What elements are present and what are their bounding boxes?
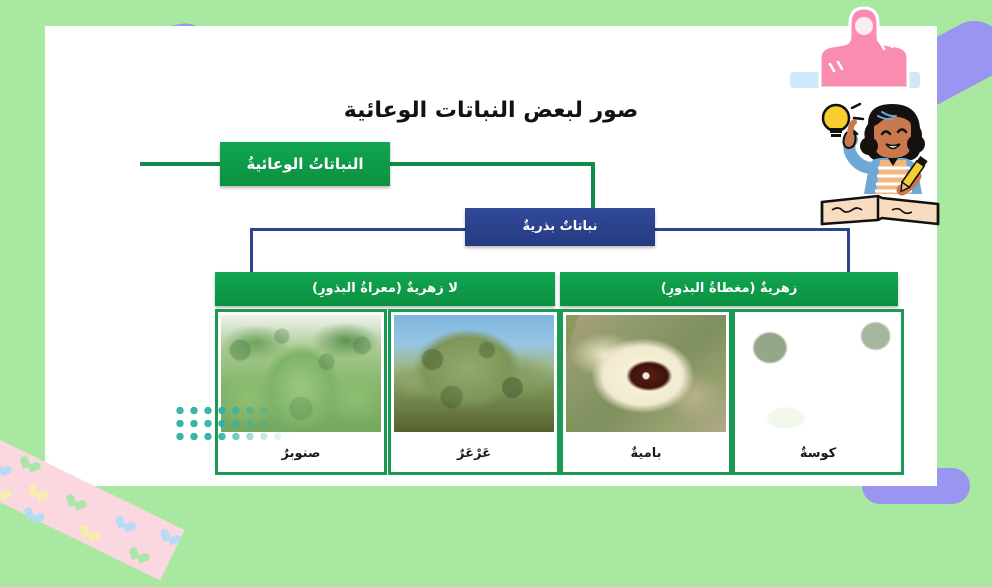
student-illustration [812,98,950,228]
specimen-caption: عَرْعَرٌ [391,435,557,472]
lightbulb-icon [823,104,863,137]
specimen-caption: باميةٌ [563,435,729,472]
node-vascular-plants[interactable]: النباتاتُ الوعائيةُ [220,142,390,186]
binder-clip-icon [784,2,944,94]
specimen-card-juniper[interactable]: عَرْعَرٌ [388,309,560,475]
zucchini-flower-photo [738,315,898,432]
node-category-angiosperms[interactable]: زهريةٌ (مغطاةُ البذورِ) [560,272,898,306]
connector-root-right-vertical [591,162,595,210]
node-category-gymnosperms[interactable]: لا زهريةٌ (معراةُ البذورِ) [215,272,555,306]
pine-tree-photo [221,315,381,432]
heart-icon [22,458,42,477]
heart-icon [0,486,13,505]
heart-icon [82,527,102,546]
node-vascular-plants-label: النباتاتُ الوعائيةُ [246,156,363,173]
okra-flower-photo [566,315,726,432]
connector-bracket-right [847,228,850,274]
node-seed-plants[interactable]: نباتاتٌ بذريةٌ [465,208,655,246]
juniper-tree-photo [394,315,554,432]
heart-icon [26,509,46,528]
node-seed-plants-label: نباتاتٌ بذريةٌ [522,220,597,234]
heart-icon [68,496,88,515]
connector-bracket-left [250,228,253,274]
slide-card: صور لبعض النباتات الوعائية النباتاتُ الو… [45,26,937,486]
heart-icon [31,487,51,506]
connector-root-left [140,162,222,166]
heart-icon [163,531,183,550]
specimen-caption: صنوبرٌ [218,435,384,472]
node-category-gymnosperms-label: لا زهريةٌ (معراةُ البذورِ) [312,282,458,296]
specimen-card-okra[interactable]: باميةٌ [560,309,732,475]
connector-root-right-horizontal [390,162,595,166]
heart-icon [131,549,151,568]
heart-icon [118,518,138,537]
specimen-card-zucchini[interactable]: كوسةٌ [732,309,904,475]
specimen-caption: كوسةٌ [735,435,901,472]
page-title: صور لبعض النباتات الوعائية [45,98,937,123]
heart-icon [0,462,13,481]
node-category-angiosperms-label: زهريةٌ (مغطاةُ البذورِ) [661,282,798,296]
specimen-card-pine[interactable]: صنوبرٌ [215,309,387,475]
